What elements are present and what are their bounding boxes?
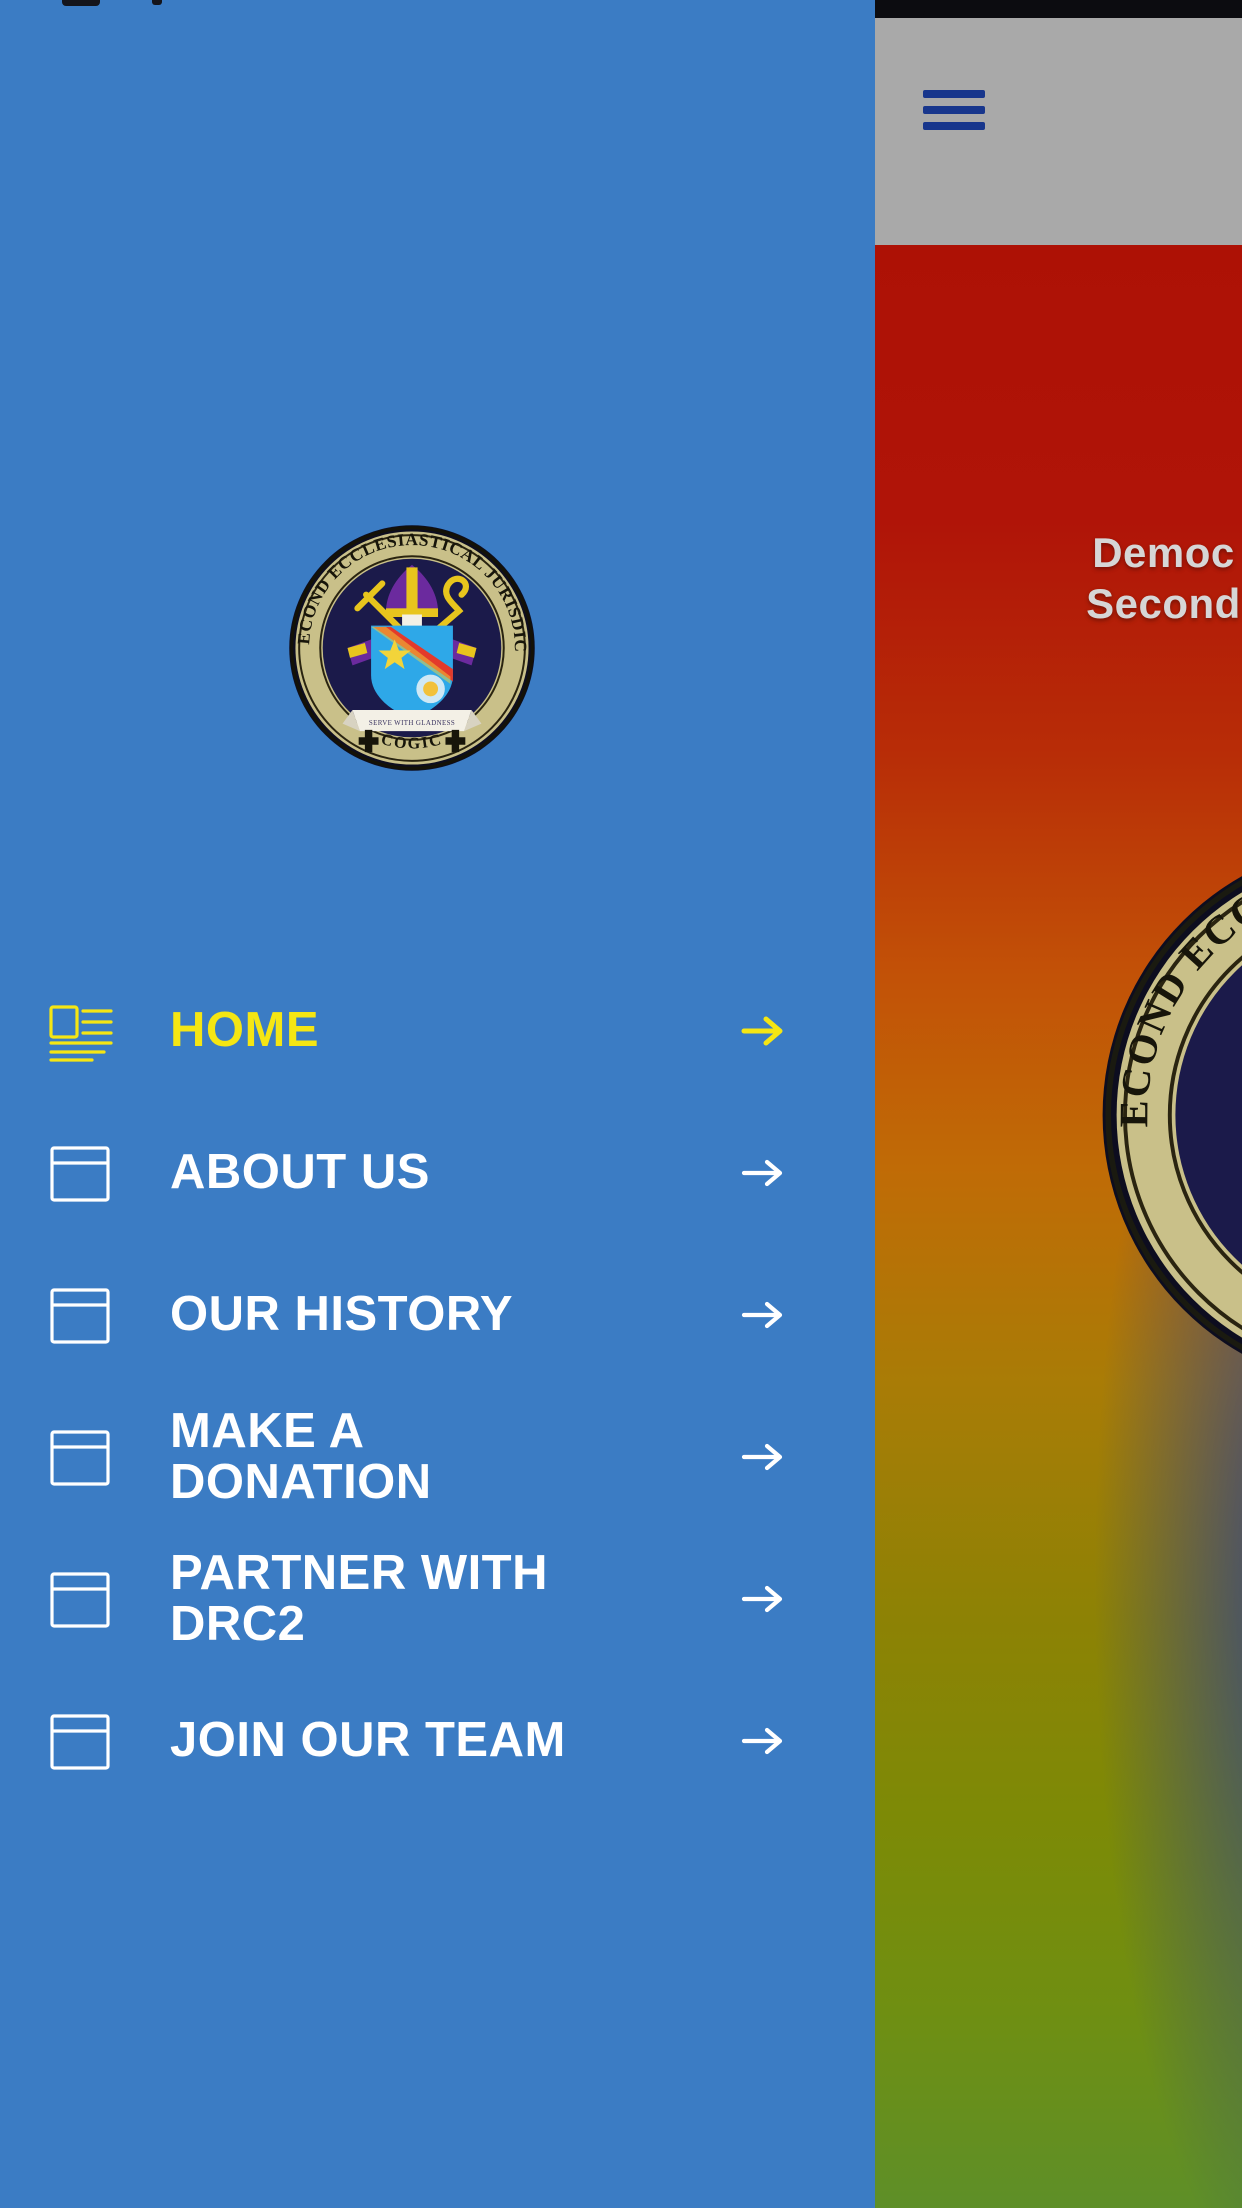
sidebar-item-label: ABOUT US [170, 1147, 430, 1198]
sidebar-item-label: MAKE A DONATION [170, 1406, 432, 1509]
window-panel-icon [48, 1424, 114, 1490]
navigation-drawer: DRC SECOND ECCLESIASTICAL JURISDICTION C… [0, 0, 875, 2208]
window-panel-icon [48, 1566, 114, 1632]
hero-title-line-2: Second [1086, 580, 1241, 627]
status-bar-fragment-2 [152, 0, 162, 5]
menu-hamburger-icon[interactable] [923, 86, 985, 134]
article-list-icon [48, 998, 114, 1064]
window-panel-icon [48, 1708, 114, 1774]
sidebar-item-home[interactable]: HOME [0, 960, 875, 1102]
sidebar-item-partner-with-drc2[interactable]: PARTNER WITH DRC2 [0, 1528, 875, 1670]
sidebar-item-about-us[interactable]: ABOUT US [0, 1102, 875, 1244]
svg-text:SERVE WITH GLADNESS: SERVE WITH GLADNESS [369, 719, 455, 727]
sidebar-item-label: OUR HISTORY [170, 1289, 513, 1340]
arrow-right-icon [740, 1153, 786, 1193]
background-page: DemocSecond DRC SECOND ECCLESIASTICAL JU… [875, 0, 1242, 2208]
hamburger-bar-1 [923, 90, 985, 98]
sidebar-item-label: JOIN OUR TEAM [170, 1715, 566, 1766]
arrow-right-icon [740, 1721, 786, 1761]
hamburger-bar-3 [923, 122, 985, 130]
window-panel-icon [48, 1140, 114, 1206]
sidebar-item-label: HOME [170, 1005, 319, 1056]
status-bar-fragment [62, 0, 100, 6]
arrow-right-icon [740, 1579, 786, 1619]
hamburger-bar-2 [923, 106, 985, 114]
status-bar [875, 0, 1242, 18]
sidebar-item-join-our-team[interactable]: JOIN OUR TEAM [0, 1670, 875, 1812]
drc2-seal-logo: DRC SECOND ECCLESIASTICAL JURISDICTION C… [288, 524, 536, 772]
arrow-right-icon [740, 1011, 786, 1051]
app-root: DemocSecond DRC SECOND ECCLESIASTICAL JU… [0, 0, 1242, 2208]
hero-title: DemocSecond [980, 527, 1242, 629]
arrow-right-icon [740, 1295, 786, 1335]
arrow-right-icon [740, 1437, 786, 1477]
hero-title-line-1: Democ [1092, 529, 1235, 576]
sidebar-item-our-history[interactable]: OUR HISTORY [0, 1244, 875, 1386]
sidebar-item-make-a-donation[interactable]: MAKE A DONATION [0, 1386, 875, 1528]
hero-emblem-icon: DRC SECOND ECCLESIASTICAL JURISDICTION C… [1097, 835, 1242, 1395]
window-panel-icon [48, 1282, 114, 1348]
sidebar-nav-list: HOME ABOUT US [0, 960, 875, 1812]
sidebar-item-label: PARTNER WITH DRC2 [170, 1548, 548, 1651]
hero-section: DemocSecond DRC SECOND ECCLESIASTICAL JU… [875, 245, 1242, 2208]
site-header-bar [875, 18, 1242, 245]
